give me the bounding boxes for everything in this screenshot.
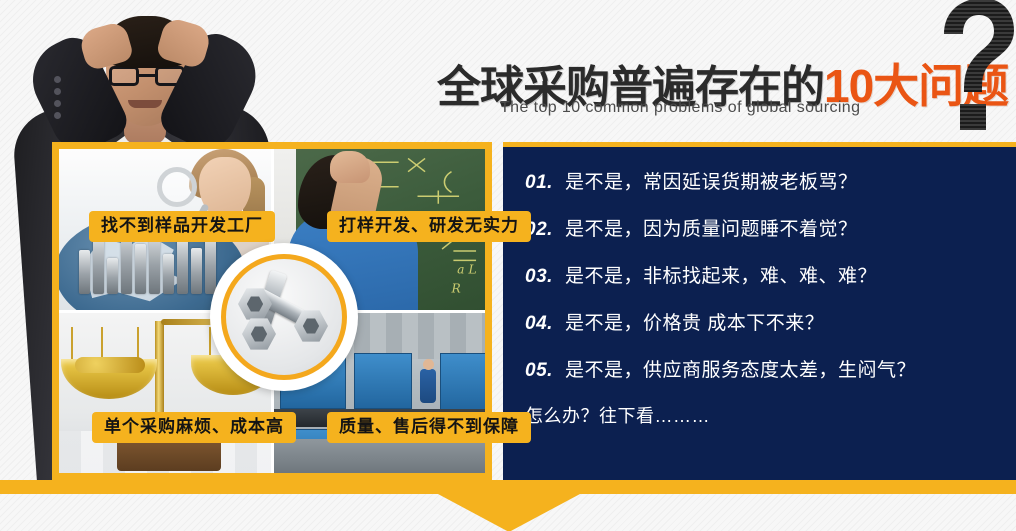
- list-item: 01. 是不是，常因延误货期被老板骂？: [525, 167, 1000, 194]
- scroll-down-arrow-icon: [438, 494, 580, 531]
- banner-stage: 全球采购普遍存在的 10大问题 The top 10 common proble…: [0, 0, 1016, 531]
- scale-chain: [101, 327, 103, 361]
- emblem-ring: [221, 254, 347, 380]
- list-item: 02. 是不是，因为质量问题睡不着觉？: [525, 214, 1000, 241]
- problem-image-collage: XL aL R: [52, 142, 492, 480]
- list-item-text: 是不是，供应商服务态度太差，生闷气？: [565, 355, 916, 382]
- magnifier-icon: [157, 167, 197, 207]
- factory-floor: [274, 439, 486, 473]
- banner-header: 全球采购普遍存在的 10大问题 The top 10 common proble…: [0, 0, 1016, 145]
- fastener-group: [232, 265, 336, 369]
- glasses-bridge: [139, 74, 155, 77]
- scale-chain: [71, 327, 73, 361]
- factory-machine: [354, 353, 412, 409]
- list-item-number: 01.: [525, 172, 565, 194]
- sleeve-buttons: [54, 76, 62, 120]
- factory-machine: [440, 353, 486, 411]
- page-subtitle: The top 10 common problems of global sou…: [500, 99, 860, 117]
- list-item-text: 是不是，常因延误货期被老板骂？: [565, 167, 858, 194]
- list-item-text: 是不是，因为质量问题睡不着觉？: [565, 214, 858, 241]
- problem-list-panel: 01. 是不是，常因延误货期被老板骂？ 02. 是不是，因为质量问题睡不着觉？ …: [503, 142, 1016, 480]
- list-item: 03. 是不是，非标找起来，难、难、难？: [525, 261, 1000, 288]
- list-item-text: 是不是，价格贵 成本下不来？: [565, 308, 824, 335]
- svg-text:L: L: [467, 263, 476, 277]
- list-item-number: 04.: [525, 313, 565, 335]
- caption-bottom-right: 质量、售后得不到保障: [327, 412, 531, 443]
- student-hand: [330, 151, 370, 183]
- svg-text:R: R: [450, 282, 460, 296]
- list-item-number: 05.: [525, 360, 565, 382]
- center-fastener-emblem: [210, 243, 358, 391]
- caption-top-left: 找不到样品开发工厂: [89, 211, 275, 242]
- list-item-number: 03.: [525, 266, 565, 288]
- list-item: 05. 是不是，供应商服务态度太差，生闷气？: [525, 355, 1000, 382]
- list-item-number: 02.: [525, 219, 565, 241]
- problem-list: 01. 是不是，常因延误货期被老板骂？ 02. 是不是，因为质量问题睡不着觉？ …: [525, 167, 1000, 428]
- gold-nuggets: [75, 357, 145, 373]
- worker-head: [423, 359, 434, 370]
- lens-left: [109, 66, 139, 86]
- list-item: 04. 是不是，价格贵 成本下不来？: [525, 308, 1000, 335]
- mouth: [128, 100, 162, 108]
- panel-footer-text: 怎么办？往下看………: [525, 402, 1000, 428]
- caption-bottom-left: 单个采购麻烦、成本高: [92, 412, 296, 443]
- factory-worker: [420, 369, 436, 403]
- bottom-accent-band: [0, 480, 1016, 494]
- eyeglasses-icon: [109, 66, 185, 86]
- scale-chain: [137, 327, 139, 361]
- list-item-text: 是不是，非标找起来，难、难、难？: [565, 261, 877, 288]
- svg-text:a: a: [457, 263, 464, 277]
- question-mark-icon: [930, 0, 1016, 144]
- caption-top-right: 打样开发、研发无实力: [327, 211, 531, 242]
